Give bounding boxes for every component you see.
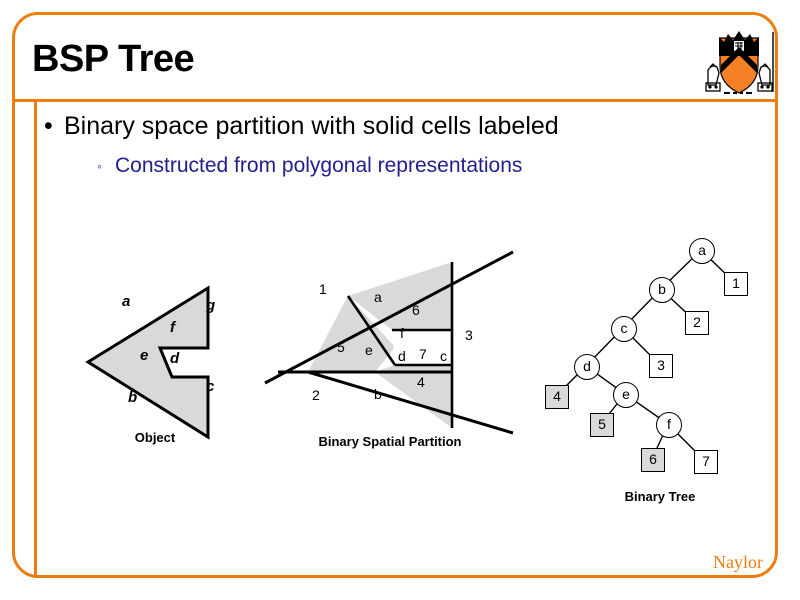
tree-node-e[interactable]: e [613, 382, 639, 408]
tree-node-a[interactable]: a [689, 238, 715, 264]
object-edge-label-f: f [170, 319, 175, 336]
tree-leaf-6[interactable]: 6 [641, 448, 665, 472]
partition-edge-label-d: d [398, 348, 406, 364]
tree-leaf-7[interactable]: 7 [694, 450, 718, 474]
partition-edge-label-b: b [374, 386, 382, 402]
caption-partition: Binary Spatial Partition [290, 434, 490, 449]
partition-edge-label-a: a [374, 289, 382, 305]
partition-region-label-6: 6 [412, 302, 420, 318]
tree-leaf-1[interactable]: 1 [724, 272, 748, 296]
partition-region-label-4: 4 [417, 374, 425, 390]
partition-region-label-2: 2 [312, 387, 320, 403]
partition-line-a [265, 252, 513, 383]
partition-region-label-7: 7 [419, 346, 427, 362]
caption-tree: Binary Tree [580, 489, 740, 504]
tree-node-d[interactable]: d [574, 354, 600, 380]
partition-region-label-1: 1 [319, 281, 327, 297]
diagrams-canvas [0, 0, 800, 600]
partition-region-label-5: 5 [337, 339, 345, 355]
object-edge-label-a: a [122, 293, 130, 310]
partition-region-label-3: 3 [465, 327, 473, 343]
partition-edge-label-f: f [400, 325, 404, 341]
tree-node-b[interactable]: b [649, 277, 675, 303]
tree-node-f[interactable]: f [656, 412, 682, 438]
attribution-label: Naylor [713, 552, 763, 573]
caption-object: Object [110, 430, 200, 445]
tree-leaf-5[interactable]: 5 [590, 413, 614, 437]
partition-figure [265, 252, 513, 433]
partition-edge-label-c: c [440, 348, 447, 364]
object-edge-label-g: g [206, 297, 215, 314]
object-edge-label-c: c [206, 378, 214, 395]
slide-canvas: BSP Tree [0, 0, 800, 600]
object-edge-label-e: e [140, 347, 148, 364]
tree-leaf-3[interactable]: 3 [649, 354, 673, 378]
object-edge-label-b: b [128, 389, 137, 406]
partition-edge-label-e: e [365, 342, 373, 358]
tree-node-c[interactable]: c [611, 316, 637, 342]
tree-leaf-2[interactable]: 2 [685, 311, 709, 335]
object-edge-label-d: d [170, 350, 179, 367]
tree-leaf-4[interactable]: 4 [545, 385, 569, 409]
